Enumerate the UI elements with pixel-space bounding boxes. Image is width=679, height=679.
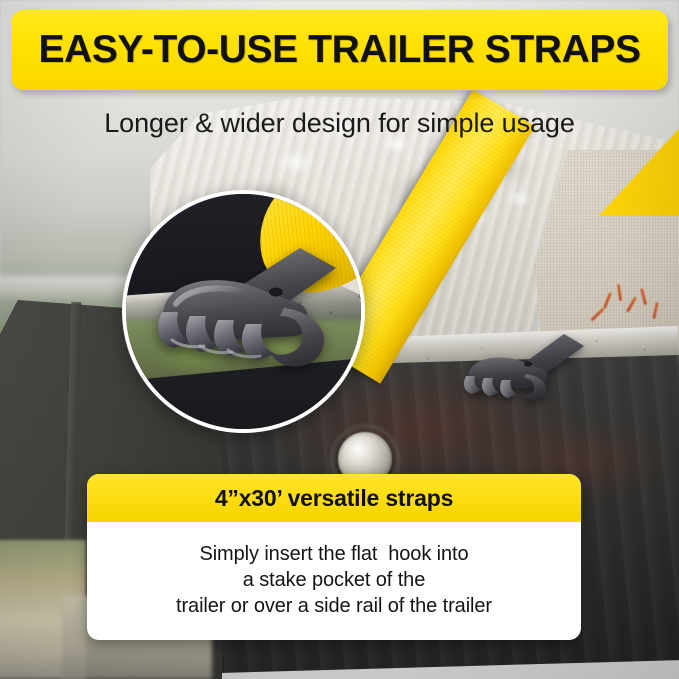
spec-card-line: a stake pocket of the (101, 568, 567, 594)
callout-flat-hook (150, 246, 361, 386)
spec-card-title: 4”x30’ versatile straps (215, 485, 453, 512)
spec-card-line: Simply insert the flat hook into (101, 542, 567, 568)
callout-inner-scene (126, 194, 361, 429)
spec-info-card: 4”x30’ versatile straps Simply insert th… (87, 474, 581, 640)
spec-card-body: Simply insert the flat hook into a stake… (87, 522, 581, 619)
headline-banner: EASY-TO-USE TRAILER STRAPS (11, 10, 668, 90)
flat-hook-closeup-callout (122, 190, 365, 433)
subtitle-text: Longer & wider design for simple usage (0, 108, 679, 139)
headline-text: EASY-TO-USE TRAILER STRAPS (38, 28, 640, 72)
flat-hook (452, 330, 592, 410)
spec-card-header: 4”x30’ versatile straps (87, 474, 581, 522)
product-marketing-poster: EASY-TO-USE TRAILER STRAPS Longer & wide… (0, 0, 679, 679)
spec-card-line: trailer or over a side rail of the trail… (101, 594, 567, 620)
